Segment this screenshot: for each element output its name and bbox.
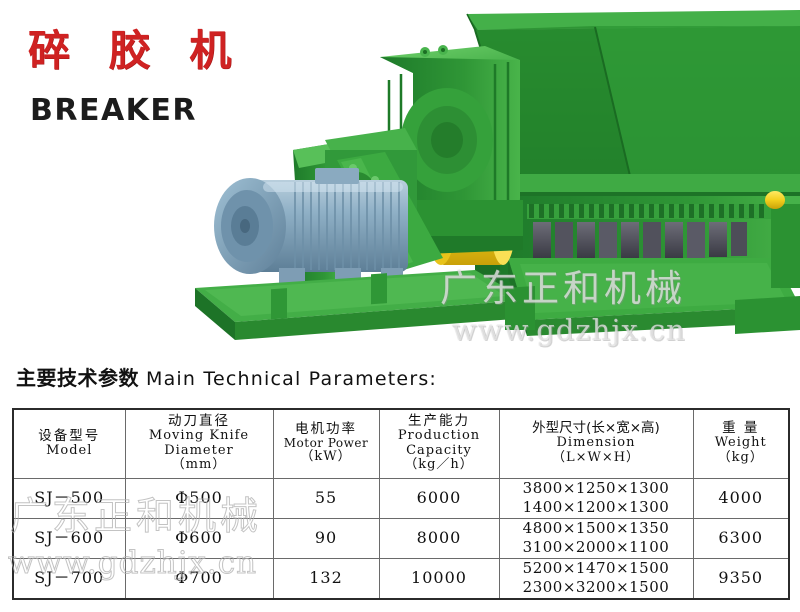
cell-dimension-line2: 1400×1200×1300	[500, 498, 693, 518]
cell-knife-diameter: Φ600	[125, 518, 273, 558]
header-cell-motor-power: 电机功率 Motor Power （kW）	[273, 409, 379, 478]
table-row: SJ－500 Φ500 55 6000 3800×1250×1300 1400×…	[13, 478, 789, 518]
header-model-en: Model	[16, 444, 123, 459]
specs-heading-chinese: 主要技术参数	[16, 366, 139, 390]
header-knife-en2: Diameter	[128, 444, 271, 459]
header-weight-cn: 重 量	[696, 421, 787, 436]
header-cell-dimension: 外型尺寸(长×宽×高) Dimension （L×W×H）	[499, 409, 693, 478]
table-header-row: 设备型号 Model 动刀直径 Moving Knife Diameter （m…	[13, 409, 789, 478]
header-knife-en1: Moving Knife	[128, 429, 271, 444]
cell-model: SJ－700	[13, 558, 125, 599]
table-row: SJ－600 Φ600 90 8000 4800×1500×1350 3100×…	[13, 518, 789, 558]
header-capacity-en1: Production	[382, 429, 497, 444]
header-dimension-cn: 外型尺寸(长×宽×高)	[502, 421, 691, 436]
header-capacity-unit: （kg／h）	[382, 458, 497, 473]
specs-heading: 主要技术参数Main Technical Parameters:	[16, 368, 437, 389]
product-datasheet-page: 碎 胶 机 BREAKER 广东正和机械 www.gdzhjx.cn 主要技术参…	[0, 0, 800, 612]
cell-motor-power: 90	[273, 518, 379, 558]
header-knife-unit: （mm）	[128, 458, 271, 473]
header-cell-weight: 重 量 Weight （kg）	[693, 409, 789, 478]
specifications-section: 主要技术参数Main Technical Parameters: 设备型号 Mo…	[0, 360, 800, 612]
hero-photo-area: 碎 胶 机 BREAKER 广东正和机械 www.gdzhjx.cn	[0, 0, 800, 360]
cell-dimension: 3800×1250×1300 1400×1200×1300	[499, 478, 693, 518]
cell-dimension-line2: 2300×3200×1500	[500, 578, 693, 598]
cell-knife-diameter: Φ700	[125, 558, 273, 599]
cell-weight: 4000	[693, 478, 789, 518]
header-capacity-en2: Capacity	[382, 444, 497, 459]
page-title-chinese: 碎 胶 机	[28, 30, 243, 72]
cell-motor-power: 55	[273, 478, 379, 518]
cell-model: SJ－600	[13, 518, 125, 558]
header-power-unit: （kW）	[276, 450, 377, 465]
cell-knife-diameter: Φ500	[125, 478, 273, 518]
cell-capacity: 8000	[379, 518, 499, 558]
specs-heading-english: Main Technical Parameters:	[146, 368, 437, 390]
header-cell-capacity: 生产能力 Production Capacity （kg／h）	[379, 409, 499, 478]
header-weight-en: Weight	[696, 436, 787, 451]
header-dimension-en: Dimension	[502, 436, 691, 451]
header-model-cn: 设备型号	[16, 429, 123, 444]
header-capacity-cn: 生产能力	[382, 414, 497, 429]
header-power-cn: 电机功率	[276, 422, 377, 437]
cell-dimension: 5200×1470×1500 2300×3200×1500	[499, 558, 693, 599]
page-title-english: BREAKER	[30, 96, 197, 126]
machine-photo	[175, 0, 800, 355]
header-cell-knife-diameter: 动刀直径 Moving Knife Diameter （mm）	[125, 409, 273, 478]
header-cell-model: 设备型号 Model	[13, 409, 125, 478]
cell-dimension-line1: 3800×1250×1300	[500, 479, 693, 499]
header-power-en: Motor Power	[276, 437, 377, 450]
header-knife-cn: 动刀直径	[128, 414, 271, 429]
specifications-table: 设备型号 Model 动刀直径 Moving Knife Diameter （m…	[12, 408, 790, 600]
cell-dimension-line2: 3100×2000×1100	[500, 538, 693, 558]
cell-dimension-line1: 5200×1470×1500	[500, 559, 693, 579]
header-dimension-unit: （L×W×H）	[502, 451, 691, 466]
cell-motor-power: 132	[273, 558, 379, 599]
cell-weight: 9350	[693, 558, 789, 599]
table-row: SJ－700 Φ700 132 10000 5200×1470×1500 230…	[13, 558, 789, 599]
cell-model: SJ－500	[13, 478, 125, 518]
cell-capacity: 10000	[379, 558, 499, 599]
cell-dimension-line1: 4800×1500×1350	[500, 519, 693, 539]
cell-capacity: 6000	[379, 478, 499, 518]
header-weight-unit: （kg）	[696, 451, 787, 466]
cell-dimension: 4800×1500×1350 3100×2000×1100	[499, 518, 693, 558]
cell-weight: 6300	[693, 518, 789, 558]
